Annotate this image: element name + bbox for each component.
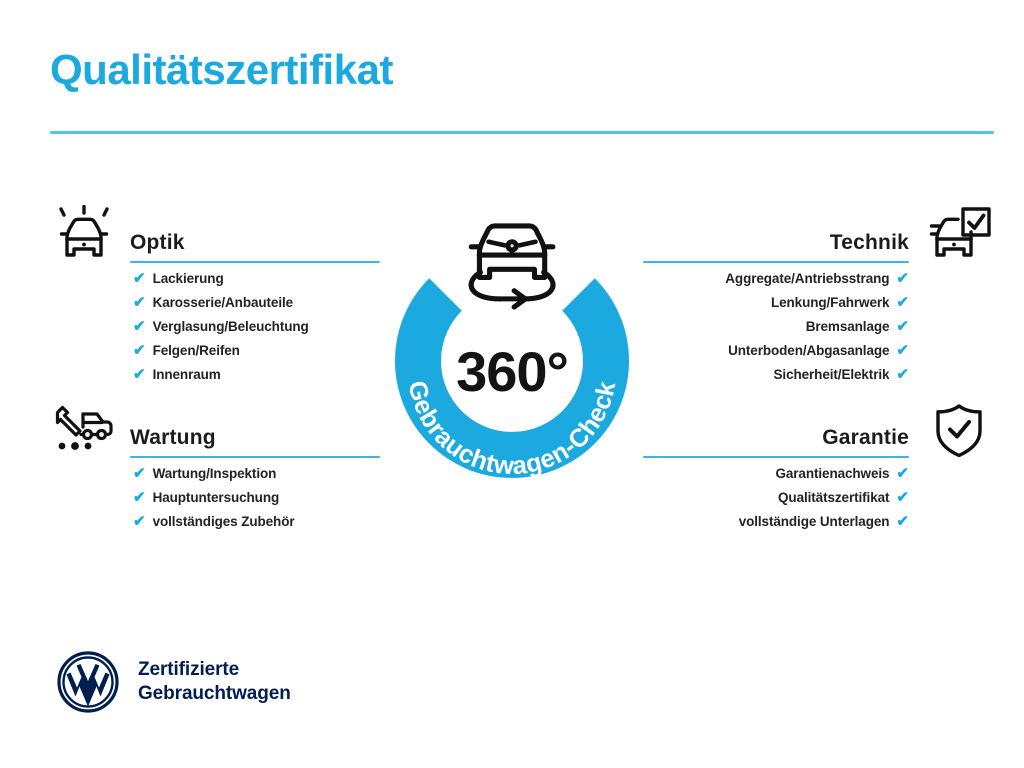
certificate-page: Qualitätszertifikat Optik bbox=[0, 0, 1024, 768]
vw-logo bbox=[56, 650, 120, 714]
check-icon: ✔ bbox=[896, 271, 909, 286]
list-item: ✔ vollständiges Zubehör bbox=[133, 514, 380, 538]
list-item: Qualitätszertifikat ✔ bbox=[643, 490, 909, 514]
car-service-tool-icon bbox=[50, 400, 118, 462]
vw-lockup-text: Zertifizierte Gebrauchtwagen bbox=[138, 658, 291, 707]
vw-lockup-line2: Gebrauchtwagen bbox=[138, 682, 291, 706]
list-item: ✔ Karosserie/Anbauteile bbox=[133, 295, 380, 319]
section-underline-technik bbox=[643, 261, 909, 263]
check-icon: ✔ bbox=[133, 514, 146, 529]
list-item: Lenkung/Fahrwerk ✔ bbox=[643, 295, 909, 319]
section-optik: Optik ✔ Lackierung ✔ Karosserie/Anbautei… bbox=[50, 205, 380, 391]
list-item-label: Sicherheit/Elektrik bbox=[774, 367, 890, 382]
list-item-label: Wartung/Inspektion bbox=[153, 466, 277, 481]
section-title-garantie: Garantie bbox=[822, 426, 909, 450]
vw-lockup-line1: Zertifizierte bbox=[138, 658, 291, 682]
section-header-optik: Optik bbox=[50, 205, 380, 269]
check-icon: ✔ bbox=[133, 466, 146, 481]
checklist-technik: Aggregate/Antriebsstrang ✔ Lenkung/Fahrw… bbox=[643, 271, 993, 391]
list-item-label: Unterboden/Abgasanlage bbox=[728, 343, 889, 358]
section-title-technik: Technik bbox=[830, 231, 909, 255]
check-icon: ✔ bbox=[133, 490, 146, 505]
list-item-label: Hauptuntersuchung bbox=[153, 490, 280, 505]
check-icon: ✔ bbox=[896, 514, 909, 529]
page-title: Qualitätszertifikat bbox=[50, 47, 393, 93]
list-item-label: Lackierung bbox=[153, 271, 224, 286]
check-icon: ✔ bbox=[896, 367, 909, 382]
section-underline-garantie bbox=[643, 456, 909, 458]
list-item-label: Innenraum bbox=[153, 367, 221, 382]
car-rotation-icon bbox=[471, 226, 553, 307]
section-header-wartung: Wartung bbox=[50, 400, 380, 464]
check-icon: ✔ bbox=[133, 319, 146, 334]
list-item-label: Aggregate/Antriebsstrang bbox=[725, 271, 889, 286]
check-icon: ✔ bbox=[133, 343, 146, 358]
shield-check-icon bbox=[925, 400, 993, 462]
list-item: Bremsanlage ✔ bbox=[643, 319, 909, 343]
section-header-technik: Technik bbox=[643, 205, 993, 269]
list-item: Unterboden/Abgasanlage ✔ bbox=[643, 343, 909, 367]
check-icon: ✔ bbox=[896, 490, 909, 505]
section-title-wartung: Wartung bbox=[130, 426, 216, 450]
check-icon: ✔ bbox=[896, 343, 909, 358]
check-icon: ✔ bbox=[896, 319, 909, 334]
badge-center-label: 360° bbox=[456, 340, 568, 403]
list-item-label: Bremsanlage bbox=[806, 319, 890, 334]
list-item: Aggregate/Antriebsstrang ✔ bbox=[643, 271, 909, 295]
list-item-label: Garantienachweis bbox=[775, 466, 889, 481]
list-item: ✔ Felgen/Reifen bbox=[133, 343, 380, 367]
list-item-label: Lenkung/Fahrwerk bbox=[771, 295, 889, 310]
list-item: ✔ Lackierung bbox=[133, 271, 380, 295]
list-item: Sicherheit/Elektrik ✔ bbox=[643, 367, 909, 391]
list-item: ✔ Wartung/Inspektion bbox=[133, 466, 380, 490]
section-underline-optik bbox=[130, 261, 380, 263]
check-icon: ✔ bbox=[896, 466, 909, 481]
list-item: ✔ Verglasung/Beleuchtung bbox=[133, 319, 380, 343]
check-icon: ✔ bbox=[133, 271, 146, 286]
list-item-label: Qualitätszertifikat bbox=[778, 490, 889, 505]
vw-brand-lockup: Zertifizierte Gebrauchtwagen bbox=[56, 650, 291, 714]
list-item-label: Felgen/Reifen bbox=[153, 343, 240, 358]
car-checkbox-icon bbox=[925, 205, 993, 267]
section-header-garantie: Garantie bbox=[643, 400, 993, 464]
list-item-label: Verglasung/Beleuchtung bbox=[153, 319, 309, 334]
section-title-optik: Optik bbox=[130, 231, 185, 255]
section-wartung: Wartung ✔ Wartung/Inspektion ✔ Hauptunte… bbox=[50, 400, 380, 538]
list-item: Garantienachweis ✔ bbox=[643, 466, 909, 490]
checklist-garantie: Garantienachweis ✔ Qualitätszertifikat ✔… bbox=[643, 466, 993, 538]
section-technik: Technik Aggregate/Antriebsstrang ✔ Lenku… bbox=[643, 205, 993, 391]
check-icon: ✔ bbox=[133, 295, 146, 310]
check-icon: ✔ bbox=[896, 295, 909, 310]
check-icon: ✔ bbox=[133, 367, 146, 382]
car-shine-icon bbox=[50, 205, 118, 267]
list-item-label: Karosserie/Anbauteile bbox=[153, 295, 293, 310]
checklist-wartung: ✔ Wartung/Inspektion ✔ Hauptuntersuchung… bbox=[50, 466, 380, 538]
checklist-optik: ✔ Lackierung ✔ Karosserie/Anbauteile ✔ V… bbox=[50, 271, 380, 391]
list-item: vollständige Unterlagen ✔ bbox=[643, 514, 909, 538]
list-item: ✔ Innenraum bbox=[133, 367, 380, 391]
title-divider bbox=[50, 131, 994, 134]
section-underline-wartung bbox=[130, 456, 380, 458]
list-item-label: vollständiges Zubehör bbox=[153, 514, 295, 529]
list-item: ✔ Hauptuntersuchung bbox=[133, 490, 380, 514]
list-item-label: vollständige Unterlagen bbox=[739, 514, 890, 529]
section-garantie: Garantie Garantienachweis ✔ Qualitätszer… bbox=[643, 400, 993, 538]
badge-360-gebrauchtwagen-check: Gebrauchtwagen-Check 360° bbox=[372, 195, 652, 505]
